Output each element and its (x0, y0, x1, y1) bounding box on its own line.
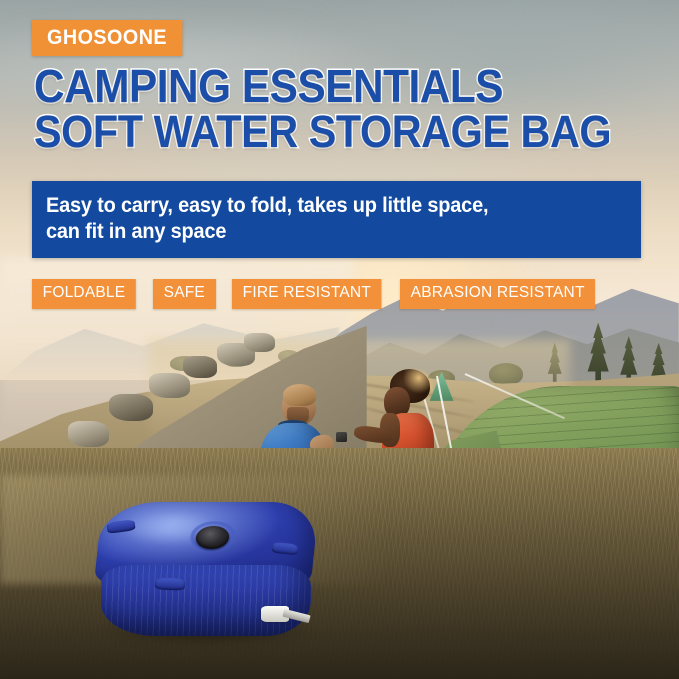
man-hair (283, 384, 316, 406)
description-line-2: can fit in any space (46, 219, 598, 245)
brand-badge: GHOSOONE (32, 20, 182, 56)
rock (109, 394, 153, 421)
rock (183, 356, 217, 378)
rock (68, 421, 109, 447)
feature-chip-fire-resistant: FIRE RESISTANT (232, 279, 382, 309)
description-line-1: Easy to carry, easy to fold, takes up li… (46, 193, 598, 219)
headline-line-1: CAMPING ESSENTIALS (34, 64, 604, 108)
feature-chip-abrasion-resistant: ABRASION RESISTANT (400, 279, 595, 309)
description-banner: Easy to carry, easy to fold, takes up li… (32, 181, 641, 258)
rock (149, 373, 190, 397)
product-marketing-poster: GHOSOONE CAMPING ESSENTIALS SOFT WATER S… (0, 0, 679, 679)
feature-chip-foldable: FOLDABLE (32, 279, 136, 309)
cup (336, 432, 347, 442)
bag-handle (155, 578, 186, 591)
headline-block: CAMPING ESSENTIALS SOFT WATER STORAGE BA… (34, 64, 654, 153)
water-storage-bag-product (98, 502, 315, 638)
feature-chip-list: FOLDABLE SAFE FIRE RESISTANT ABRASION RE… (32, 279, 601, 309)
headline-line-2: SOFT WATER STORAGE BAG (34, 110, 604, 153)
rock (244, 333, 275, 352)
bag-spigot (261, 603, 309, 630)
feature-chip-safe: SAFE (153, 279, 216, 309)
